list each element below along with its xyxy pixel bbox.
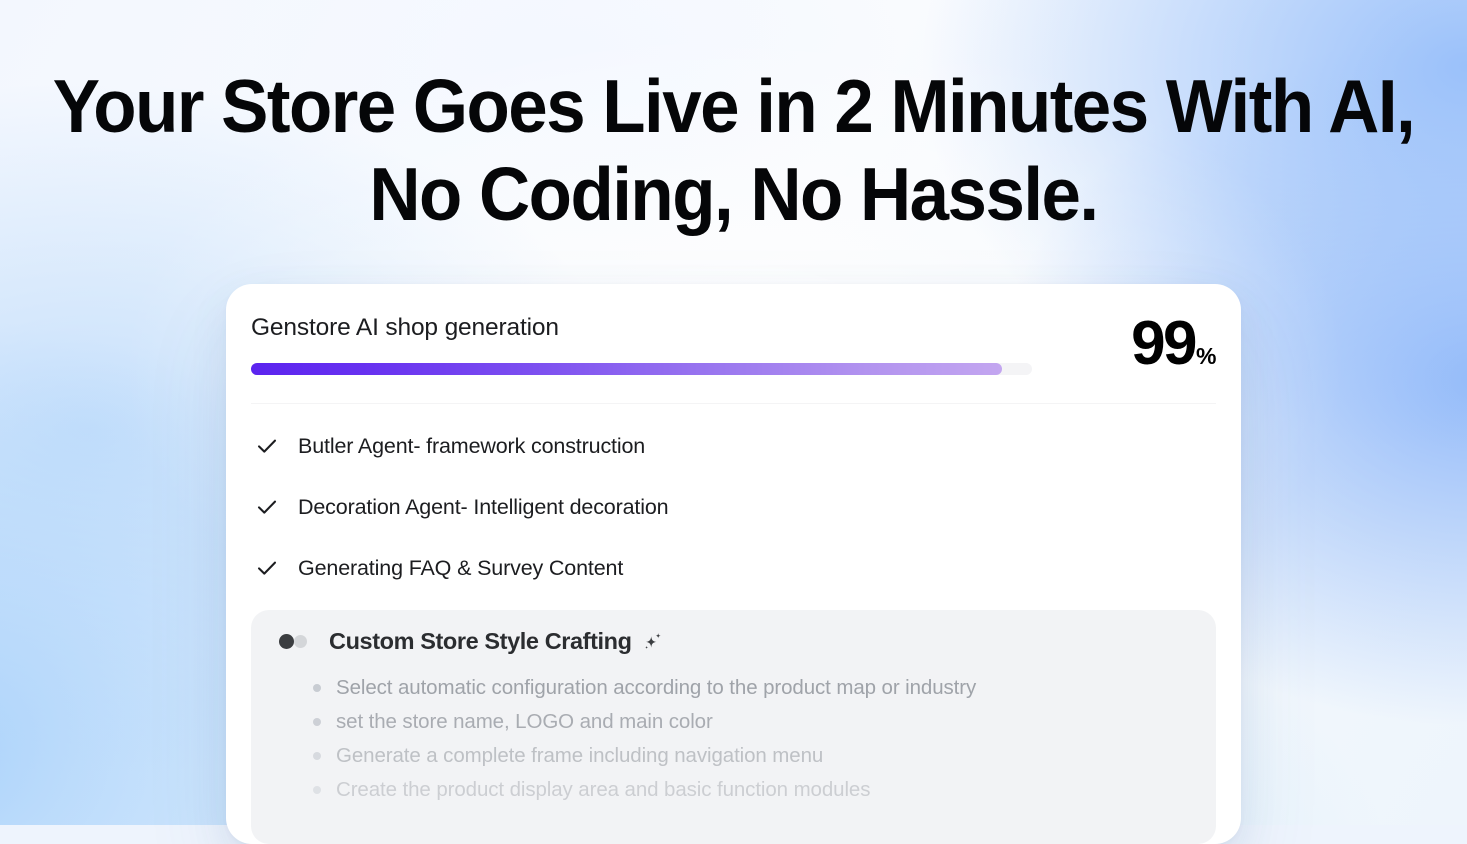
- loading-dots-icon: [279, 634, 307, 649]
- list-item: Generate a complete frame including navi…: [313, 739, 1216, 773]
- bullet-icon: [313, 684, 321, 692]
- check-icon: [254, 494, 280, 520]
- list-item: Decoration Agent- Intelligent decoration: [251, 493, 1216, 521]
- active-step-header: Custom Store Style Crafting: [251, 624, 1216, 658]
- list-item-label: Create the product display area and basi…: [336, 778, 870, 802]
- list-item-label: Generating FAQ & Survey Content: [298, 556, 623, 581]
- sparkle-icon: [641, 630, 665, 654]
- check-icon: [254, 433, 280, 459]
- progress-bar-fill: [251, 363, 1002, 375]
- list-item-label: Generate a complete frame including navi…: [336, 744, 823, 768]
- completed-steps-list: Butler Agent- framework construction Dec…: [251, 432, 1216, 615]
- progress-bar-track: [251, 363, 1032, 375]
- list-item: Create the product display area and basi…: [313, 773, 1216, 807]
- card-title: Genstore AI shop generation: [251, 314, 559, 342]
- page-title: Your Store Goes Live in 2 Minutes With A…: [40, 62, 1426, 238]
- list-item-label: Select automatic configuration according…: [336, 676, 976, 700]
- check-icon: [254, 555, 280, 581]
- progress-percent-symbol: %: [1196, 345, 1216, 368]
- list-item-label: set the store name, LOGO and main color: [336, 710, 713, 734]
- generation-progress-card: Genstore AI shop generation 99 % Butler …: [226, 284, 1241, 844]
- progress-percent-display: 99 %: [1131, 313, 1216, 375]
- card-header: Genstore AI shop generation 99 %: [226, 284, 1241, 403]
- progress-percent-value: 99: [1131, 313, 1195, 375]
- active-step-sublist: Select automatic configuration according…: [251, 671, 1216, 807]
- list-item-label: Butler Agent- framework construction: [298, 434, 645, 459]
- hero-headline-container: Your Store Goes Live in 2 Minutes With A…: [0, 62, 1467, 238]
- list-item: Butler Agent- framework construction: [251, 432, 1216, 460]
- bullet-icon: [313, 786, 321, 794]
- list-item: set the store name, LOGO and main color: [313, 705, 1216, 739]
- active-step-panel: Custom Store Style Crafting Select autom…: [251, 610, 1216, 844]
- list-item: Generating FAQ & Survey Content: [251, 554, 1216, 582]
- list-item: Select automatic configuration according…: [313, 671, 1216, 705]
- header-divider: [251, 403, 1216, 404]
- active-step-title: Custom Store Style Crafting: [329, 628, 632, 655]
- bullet-icon: [313, 752, 321, 760]
- bullet-icon: [313, 718, 321, 726]
- list-item-label: Decoration Agent- Intelligent decoration: [298, 495, 669, 520]
